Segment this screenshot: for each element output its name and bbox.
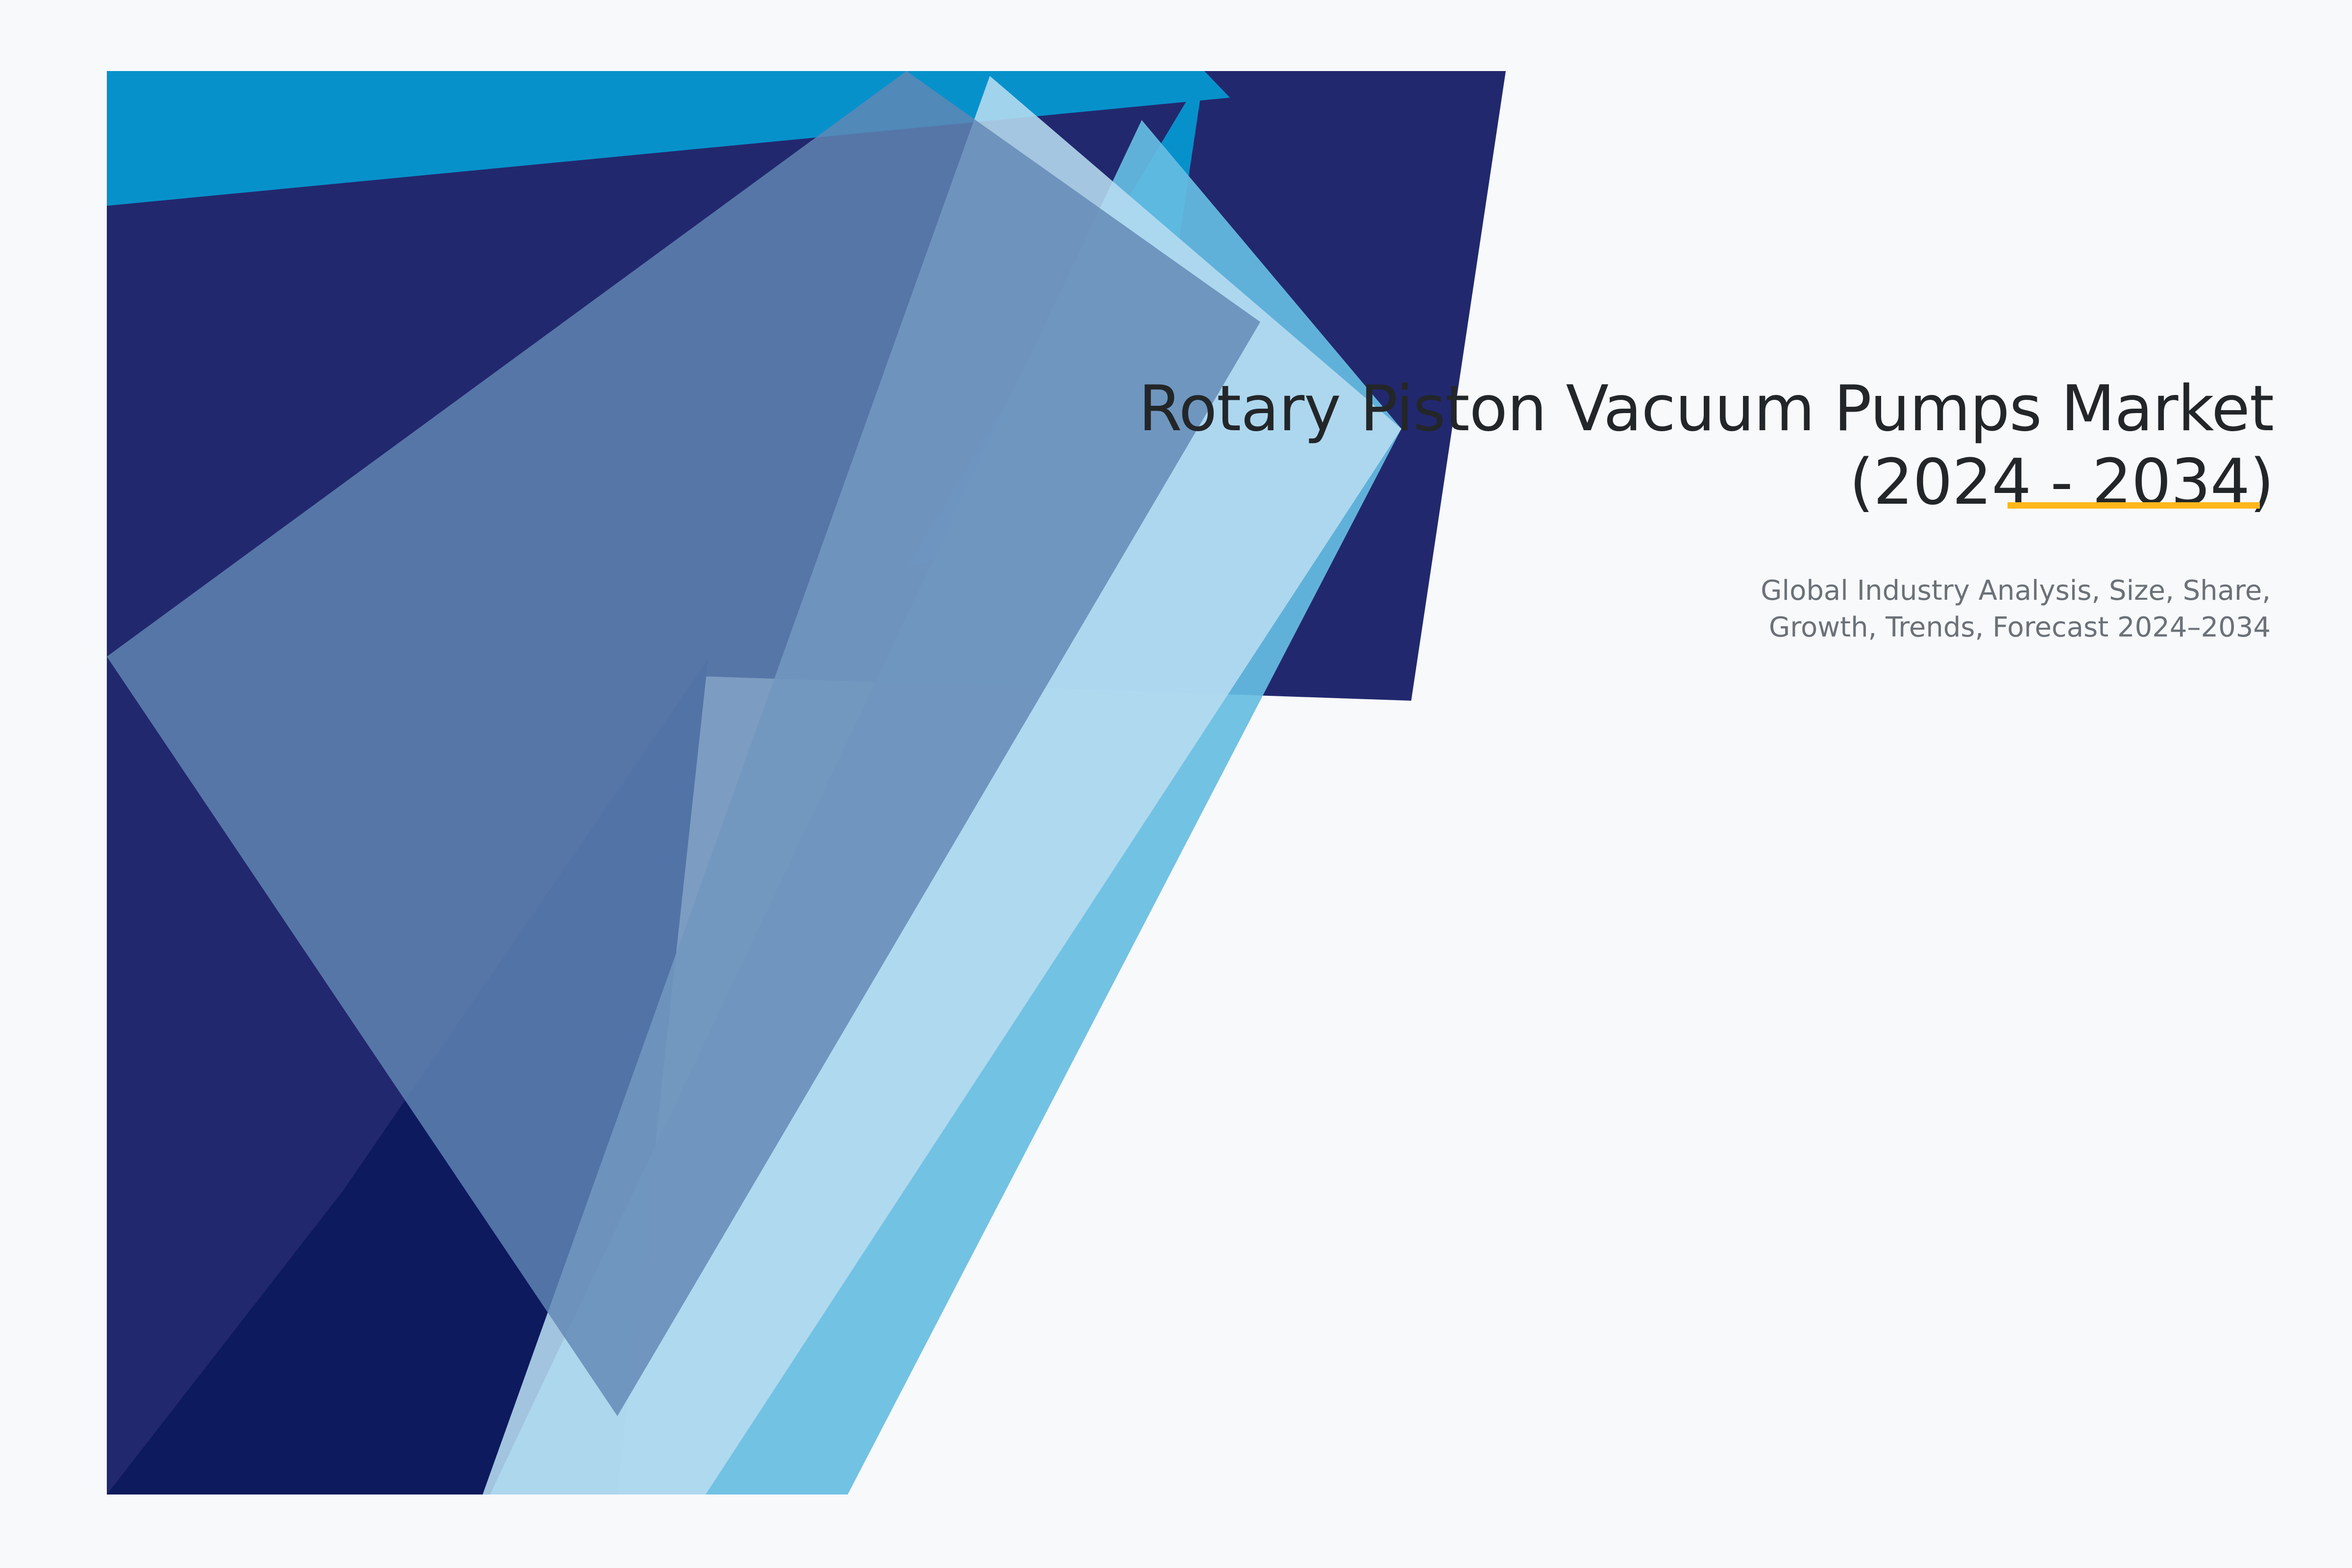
cover-text-block: Rotary Piston Vacuum Pumps Market (2024 … xyxy=(862,372,2274,646)
navy-wedge-shape xyxy=(107,71,1506,1494)
navy-top-right-triangle-shape xyxy=(1204,71,1506,230)
title-accent-underline xyxy=(2008,502,2260,509)
slate-blue-overlay-shape xyxy=(107,71,1260,1416)
report-cover: Rotary Piston Vacuum Pumps Market (2024 … xyxy=(0,0,2352,1568)
title-wrap: Rotary Piston Vacuum Pumps Market (2024 … xyxy=(862,372,2274,519)
sky-blue-band-shape xyxy=(490,120,1401,1494)
page-subtitle: Global Industry Analysis, Size, Share, G… xyxy=(862,572,2271,646)
pale-blue-band-shape xyxy=(483,76,1401,1494)
abstract-polygon-graphic xyxy=(0,0,2352,1568)
deep-navy-spike-shape xyxy=(107,659,708,1494)
page-title: Rotary Piston Vacuum Pumps Market (2024 … xyxy=(862,372,2274,519)
